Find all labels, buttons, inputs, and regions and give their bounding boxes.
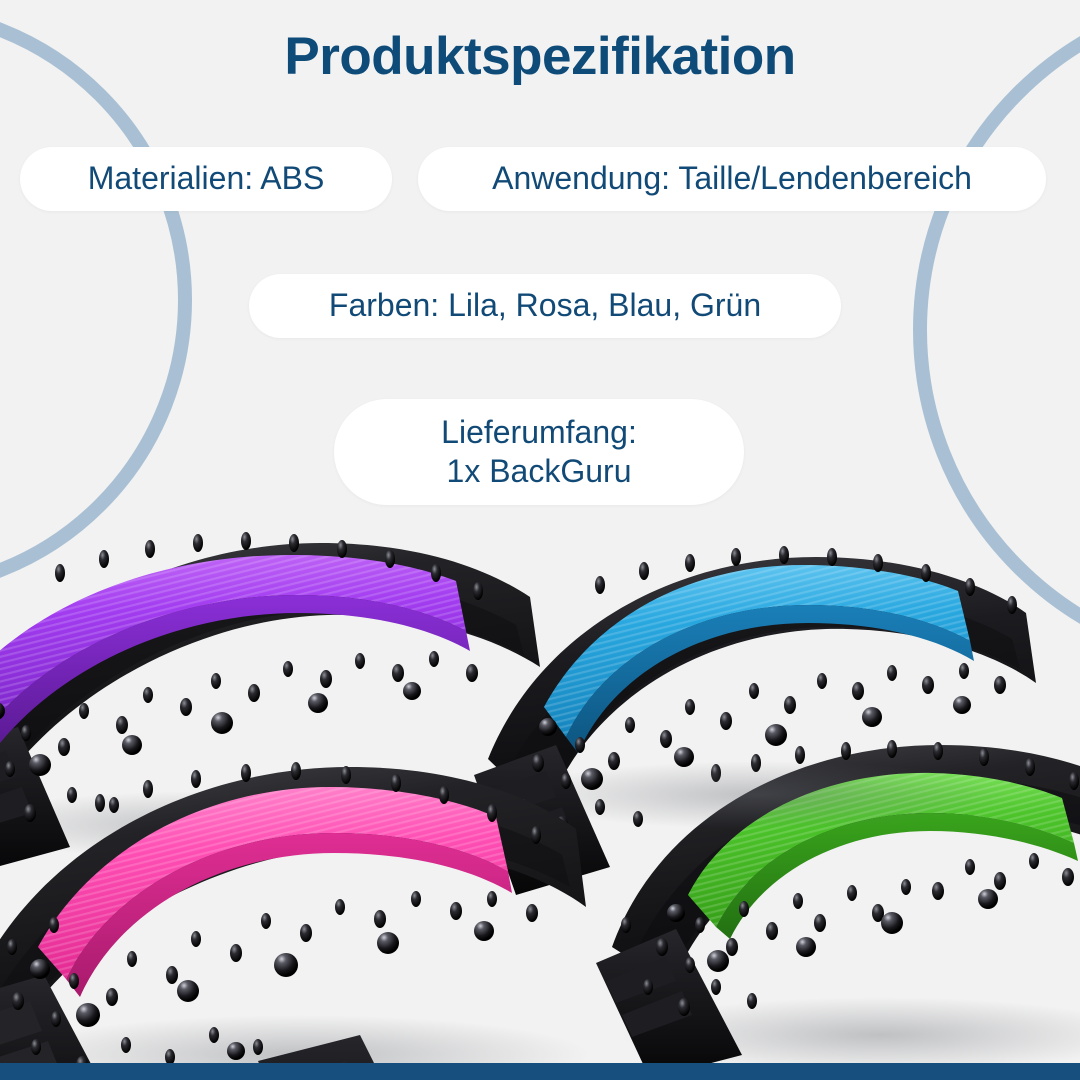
spec-label-application: Anwendung: Taille/Lendenbereich (492, 159, 972, 198)
spec-pill-material: Materialien: ABS (20, 147, 392, 211)
page-title: Produktspezifikation (0, 28, 1080, 86)
spec-pill-colors: Farben: Lila, Rosa, Blau, Grün (249, 274, 841, 338)
spec-label-colors: Farben: Lila, Rosa, Blau, Grün (329, 286, 761, 325)
spec-label-scope-line1: Lieferumfang: (441, 413, 637, 452)
spec-pill-scope-of-delivery: Lieferumfang: 1x BackGuru (334, 399, 744, 505)
spec-pill-application: Anwendung: Taille/Lendenbereich (418, 147, 1046, 211)
product-photo (0, 495, 1080, 1080)
spec-label-material: Materialien: ABS (88, 159, 325, 198)
bottom-brand-bar (0, 1063, 1080, 1080)
spec-label-scope-line2: 1x BackGuru (447, 452, 632, 491)
infographic-canvas: Produktspezifikation Materialien: ABS An… (0, 0, 1080, 1080)
